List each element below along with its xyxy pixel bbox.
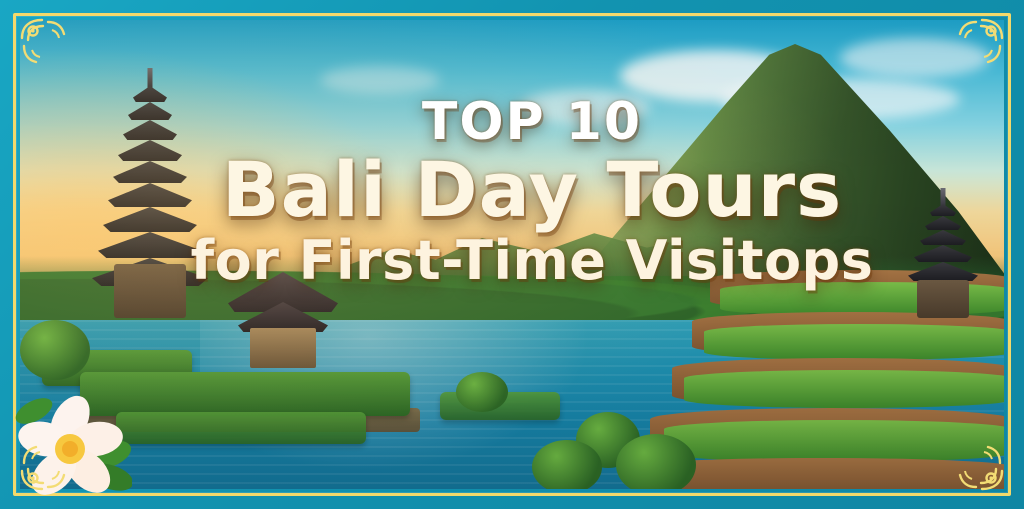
bush: [20, 320, 90, 380]
rice-terrace-green: [704, 324, 1004, 360]
cloud: [320, 66, 440, 94]
bush: [616, 434, 696, 489]
rice-terrace-green: [664, 420, 1004, 462]
pagoda-tier: [113, 161, 187, 183]
lake-temple-pagoda: [90, 68, 210, 318]
hedge: [116, 412, 366, 444]
pagoda-tier: [118, 140, 182, 161]
pagoda-tier: [914, 245, 972, 262]
cloud: [840, 38, 990, 78]
pagoda-tier: [133, 86, 167, 102]
bush: [532, 440, 602, 489]
cloud: [520, 90, 650, 124]
pagoda-tier: [925, 216, 961, 230]
pagoda-tier: [98, 232, 202, 258]
bali-tours-banner: TOP 10 Bali Day Tours for First-Time Vis…: [0, 0, 1024, 509]
temple-pavilion: [228, 272, 338, 368]
frangipani-flower-icon: [14, 381, 132, 499]
pagoda-tier: [920, 230, 966, 245]
pagoda-tier: [108, 183, 192, 207]
pagoda-tier: [908, 262, 978, 281]
scene-photo: [20, 20, 1004, 489]
pagoda-base: [917, 280, 969, 318]
pagoda-tier: [103, 207, 197, 232]
pagoda-tier: [123, 120, 177, 140]
pagoda-tier: [930, 204, 956, 216]
pagoda-base: [114, 264, 186, 318]
terrace-pagoda: [900, 188, 986, 318]
rice-terrace-green: [684, 370, 1004, 408]
bush: [456, 372, 508, 412]
pagoda-tier: [128, 102, 172, 120]
pavilion-base: [250, 328, 316, 368]
